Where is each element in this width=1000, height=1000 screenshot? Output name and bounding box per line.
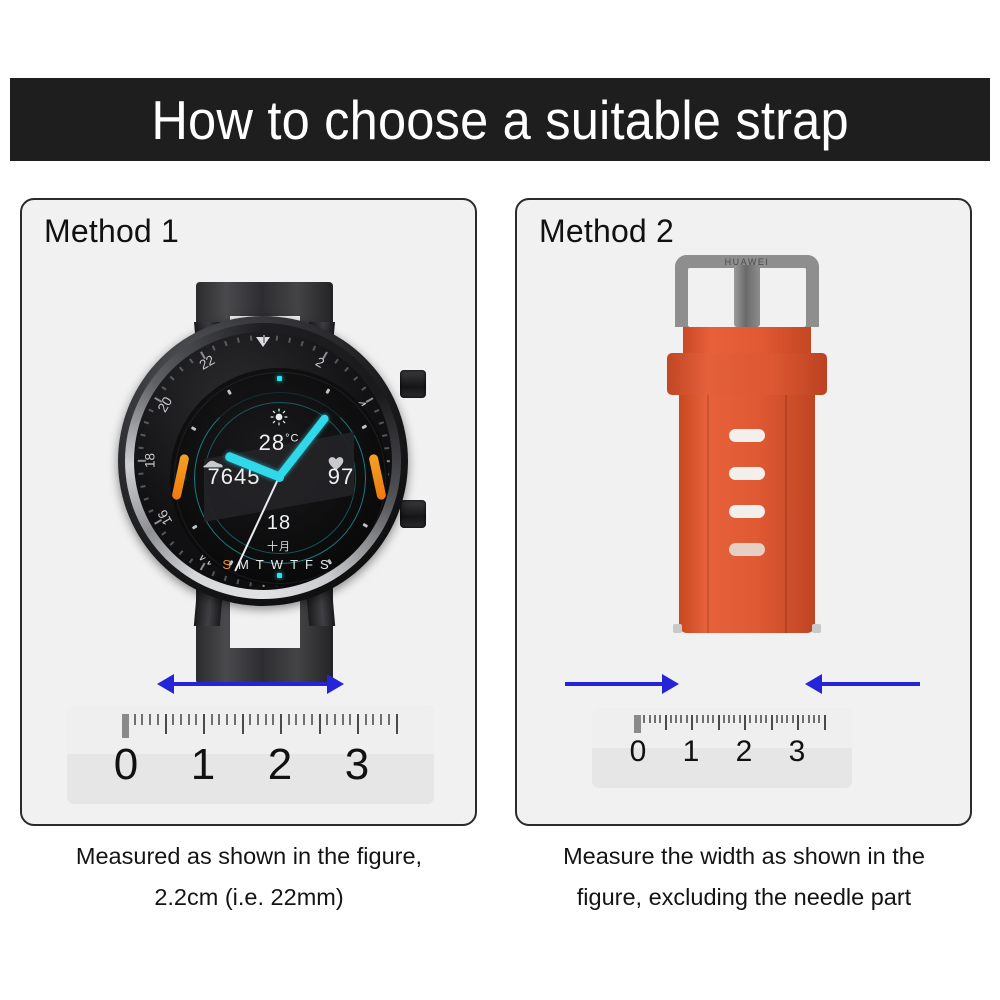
ruler-minor-tick bbox=[388, 714, 390, 725]
ruler-minor-tick bbox=[739, 715, 741, 723]
bezel-tick bbox=[250, 336, 252, 341]
bezel-tick bbox=[312, 346, 315, 351]
ruler-minor-tick bbox=[749, 715, 751, 723]
ruler-minor-tick bbox=[643, 715, 645, 723]
method-2-title: Method 2 bbox=[539, 213, 674, 250]
ruler-major-tick bbox=[718, 715, 720, 730]
ruler-minor-tick bbox=[349, 714, 351, 725]
ruler-minor-tick bbox=[712, 715, 714, 723]
bezel-tick bbox=[148, 409, 153, 412]
bezel-tick bbox=[237, 338, 240, 343]
watch-dial: 28°C 7645 97 18 十月 SMTWTFS bbox=[170, 368, 388, 586]
ruler-minor-tick bbox=[675, 715, 677, 723]
ruler-major-tick bbox=[824, 715, 826, 730]
ruler-major-tick bbox=[771, 715, 773, 730]
watch-illustration: 246810121416182022 bbox=[100, 288, 430, 678]
ruler-minor-tick bbox=[149, 714, 151, 725]
ruler-minor-tick bbox=[311, 714, 313, 725]
bezel-tick bbox=[140, 434, 145, 437]
ruler-minor-tick bbox=[808, 715, 810, 723]
method-1-title: Method 1 bbox=[44, 213, 179, 250]
bezel-tick bbox=[138, 473, 143, 475]
ruler-major-tick bbox=[319, 714, 321, 734]
ruler-number: 0 bbox=[618, 735, 658, 769]
bezel-tick bbox=[361, 386, 366, 390]
bezel-tick bbox=[334, 359, 338, 364]
arrow-shaft bbox=[172, 682, 329, 686]
strap-hole bbox=[729, 467, 765, 480]
weekday-letter: W bbox=[271, 557, 290, 572]
ruler-minor-tick bbox=[288, 714, 290, 725]
method-2-panel: Method 2 HUAWEI 0123 bbox=[515, 198, 972, 826]
arrow-shaft-right bbox=[820, 682, 920, 686]
bezel-tick bbox=[144, 421, 149, 424]
ruler-major-tick bbox=[744, 715, 746, 730]
ruler-minor-tick bbox=[680, 715, 682, 723]
bezel-tick bbox=[237, 579, 240, 584]
ruler-major-tick bbox=[242, 714, 244, 734]
strap-groove-left bbox=[707, 387, 709, 633]
bezel-tick bbox=[224, 341, 227, 346]
ruler-minor-tick bbox=[180, 714, 182, 725]
page-title-band: How to choose a suitable strap bbox=[10, 78, 990, 161]
bezel-tick bbox=[161, 531, 166, 535]
dial-date-day: 18 bbox=[170, 512, 388, 535]
ruler-minor-tick bbox=[733, 715, 735, 723]
ruler-minor-tick bbox=[786, 715, 788, 723]
ruler-minor-tick bbox=[265, 714, 267, 725]
ruler-major-tick bbox=[357, 714, 359, 734]
bezel-number: 18 bbox=[143, 453, 158, 469]
ruler-minor-tick bbox=[380, 714, 382, 725]
ruler-minor-tick bbox=[760, 715, 762, 723]
ruler-minor-tick bbox=[326, 714, 328, 725]
ruler-minor-tick bbox=[218, 714, 220, 725]
ruler-minor-tick bbox=[365, 714, 367, 725]
ruler-number: 2 bbox=[724, 735, 764, 769]
sun-icon bbox=[270, 408, 288, 426]
ruler-major-tick bbox=[165, 714, 167, 734]
weekday-letter: T bbox=[290, 557, 305, 572]
strap-hole bbox=[729, 505, 765, 518]
method-2-caption: Measure the width as shown in the figure… bbox=[509, 836, 979, 918]
ruler-number: 2 bbox=[260, 740, 300, 790]
bezel-number: 20 bbox=[155, 393, 176, 414]
ruler-minor-tick bbox=[696, 715, 698, 723]
bezel-tick bbox=[300, 341, 303, 346]
watch-crown-upper-button bbox=[400, 370, 426, 398]
bezel-tick bbox=[379, 421, 384, 424]
dial-temperature-unit: °C bbox=[285, 433, 299, 445]
ruler-minor-tick bbox=[334, 714, 336, 725]
ruler-minor-tick bbox=[792, 715, 794, 723]
ruler-minor-tick bbox=[303, 714, 305, 725]
weekday-letter: T bbox=[256, 557, 271, 572]
dial-date-month: 十月 bbox=[170, 538, 388, 554]
weekday-letter: S bbox=[320, 557, 336, 572]
ruler-minor-tick bbox=[134, 714, 136, 725]
ruler-number: 3 bbox=[777, 735, 817, 769]
bezel-tick bbox=[148, 509, 153, 512]
ruler-minor-tick bbox=[802, 715, 804, 723]
caption-line: figure, excluding the needle part bbox=[509, 877, 979, 918]
bezel-tick bbox=[353, 376, 358, 381]
arrow-shaft-left bbox=[565, 682, 665, 686]
ruler-minor-tick bbox=[781, 715, 783, 723]
ruler-minor-tick bbox=[188, 714, 190, 725]
ruler-minor-tick bbox=[195, 714, 197, 725]
caption-line: Measured as shown in the figure, bbox=[14, 836, 484, 877]
ruler-2: 0123 bbox=[592, 708, 852, 788]
bezel-tick bbox=[212, 346, 215, 351]
bezel-tick bbox=[161, 386, 166, 390]
method-1-panel: Method 1 246810121416182022 bbox=[20, 198, 477, 826]
bezel-tick bbox=[288, 338, 291, 343]
dial-heart-rate: 97 bbox=[310, 464, 372, 490]
caption-line: Measure the width as shown in the bbox=[509, 836, 979, 877]
method-1-caption: Measured as shown in the figure, 2.2cm (… bbox=[14, 836, 484, 918]
bezel-tick bbox=[263, 335, 265, 343]
ruler-zero-block bbox=[634, 715, 641, 733]
ruler-minor-tick bbox=[211, 714, 213, 725]
watch-case: 246810121416182022 bbox=[118, 316, 408, 606]
ruler-minor-tick bbox=[659, 715, 661, 723]
dial-temperature: 28°C bbox=[170, 430, 388, 456]
ruler-minor-tick bbox=[234, 714, 236, 725]
ruler-minor-tick bbox=[372, 714, 374, 725]
ruler-minor-tick bbox=[670, 715, 672, 723]
ruler-zero-block bbox=[122, 714, 129, 738]
ruler-minor-tick bbox=[818, 715, 820, 723]
bezel-number: 22 bbox=[196, 352, 217, 373]
ruler-minor-tick bbox=[342, 714, 344, 725]
ruler-minor-tick bbox=[157, 714, 159, 725]
bezel-tick bbox=[224, 576, 227, 581]
ruler-minor-tick bbox=[755, 715, 757, 723]
dial-marker-dot bbox=[277, 376, 282, 381]
dial-marker-dot bbox=[277, 573, 282, 578]
ruler-minor-tick bbox=[702, 715, 704, 723]
ruler-minor-tick bbox=[649, 715, 651, 723]
dial-temperature-value: 28 bbox=[259, 430, 285, 455]
bezel-tick bbox=[144, 498, 149, 501]
ruler-major-tick bbox=[797, 715, 799, 730]
buckle-tongue-needle bbox=[734, 265, 760, 327]
ruler-number: 1 bbox=[183, 740, 223, 790]
watch-hand-pivot bbox=[275, 473, 284, 482]
ruler-minor-tick bbox=[765, 715, 767, 723]
bezel-number: 2 bbox=[309, 352, 330, 373]
strap-groove-right bbox=[785, 387, 787, 633]
weekday-letter: F bbox=[305, 557, 320, 572]
bezel-tick bbox=[138, 447, 143, 449]
ruler-minor-tick bbox=[272, 714, 274, 725]
ruler-major-tick bbox=[396, 714, 398, 734]
ruler-minor-tick bbox=[295, 714, 297, 725]
bezel-tick bbox=[276, 336, 278, 341]
watch-bezel: 246810121416182022 bbox=[134, 332, 392, 590]
caption-line: 2.2cm (i.e. 22mm) bbox=[14, 877, 484, 918]
ruler-minor-tick bbox=[813, 715, 815, 723]
ruler-minor-tick bbox=[686, 715, 688, 723]
bezel-tick bbox=[374, 409, 379, 412]
ruler-1: 0123 bbox=[67, 705, 434, 804]
strap-hole bbox=[729, 429, 765, 442]
buckle-brand-label: HUAWEI bbox=[637, 257, 857, 267]
ruler-major-tick bbox=[665, 715, 667, 730]
bezel-tick bbox=[179, 367, 184, 372]
ruler-minor-tick bbox=[249, 714, 251, 725]
ruler-number: 1 bbox=[671, 735, 711, 769]
bezel-tick bbox=[344, 367, 349, 372]
ruler-major-tick bbox=[691, 715, 693, 730]
ruler-number: 3 bbox=[337, 740, 377, 790]
ruler-minor-tick bbox=[728, 715, 730, 723]
ruler-minor-tick bbox=[226, 714, 228, 725]
strap-keeper-loop bbox=[667, 353, 827, 395]
dial-weekday-row: SMTWTFS bbox=[170, 557, 388, 572]
ruler-major-tick bbox=[203, 714, 205, 734]
ruler-major-tick bbox=[280, 714, 282, 734]
arrow-head-right bbox=[327, 674, 344, 694]
watch-crown-lower-button bbox=[400, 500, 426, 528]
ruler-minor-tick bbox=[141, 714, 143, 725]
ruler-minor-tick bbox=[654, 715, 656, 723]
spring-bar-pin-left bbox=[673, 624, 682, 633]
ruler-minor-tick bbox=[257, 714, 259, 725]
arrow-head-pointing-right bbox=[662, 674, 679, 694]
strap-body bbox=[679, 387, 815, 633]
spring-bar-pin-right bbox=[812, 624, 821, 633]
ruler-minor-tick bbox=[723, 715, 725, 723]
ruler-minor-tick bbox=[172, 714, 174, 725]
bezel-tick bbox=[140, 485, 145, 488]
bezel-tick bbox=[170, 376, 175, 381]
page-title: How to choose a suitable strap bbox=[151, 88, 848, 152]
ruler-minor-tick bbox=[707, 715, 709, 723]
ruler-number: 0 bbox=[106, 740, 146, 790]
strap-hole bbox=[729, 543, 765, 556]
bezel-tick bbox=[189, 359, 193, 364]
ruler-minor-tick bbox=[776, 715, 778, 723]
strap-illustration: HUAWEI bbox=[637, 255, 857, 685]
